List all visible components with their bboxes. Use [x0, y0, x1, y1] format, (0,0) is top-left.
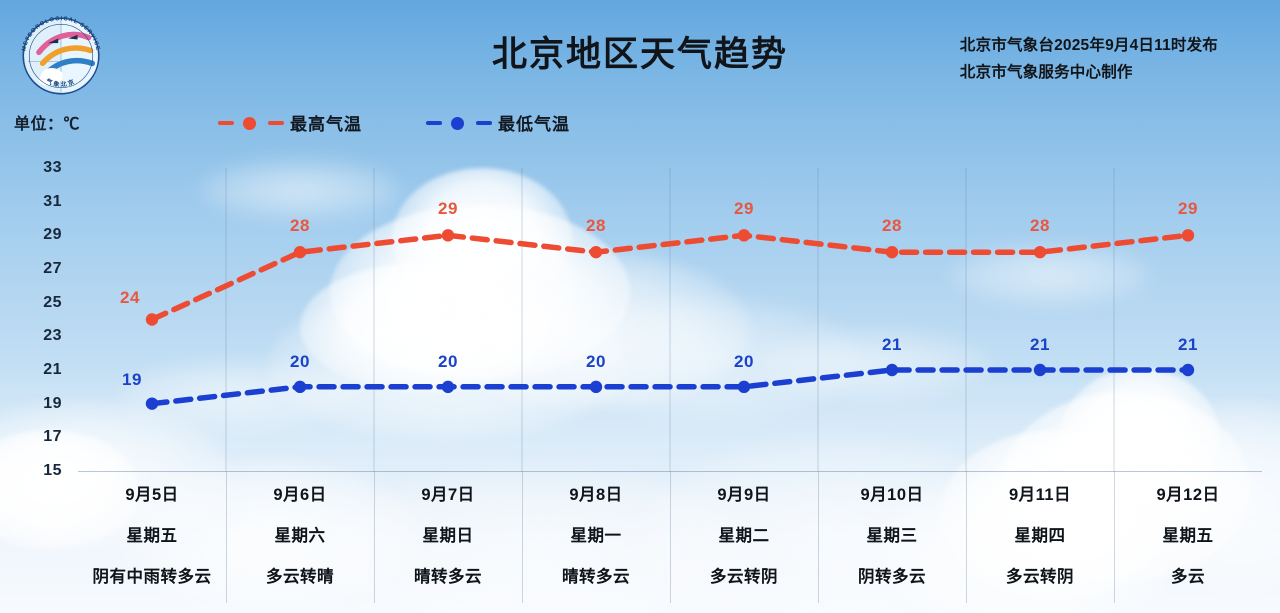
data-point-high	[442, 229, 454, 241]
value-label-high: 29	[734, 199, 754, 219]
day-condition: 多云	[1171, 563, 1205, 587]
data-point-high	[146, 313, 158, 325]
data-point-low	[442, 381, 454, 393]
data-point-low	[1182, 364, 1194, 376]
value-label-high: 24	[120, 288, 140, 308]
data-point-high	[294, 246, 306, 258]
value-label-high: 28	[290, 216, 310, 236]
day-date: 9月6日	[273, 481, 326, 505]
data-point-high	[590, 246, 602, 258]
day-date: 9月8日	[569, 481, 622, 505]
data-point-high	[1182, 229, 1194, 241]
y-axis-tick: 21	[43, 361, 62, 379]
day-column: 9月5日星期五阴有中雨转多云	[78, 471, 226, 613]
value-label-high: 28	[1030, 216, 1050, 236]
legend-label-high: 最高气温	[290, 110, 362, 135]
day-condition: 多云转晴	[266, 563, 334, 587]
publisher-line-1: 北京市气象台2025年9月4日11时发布	[960, 32, 1218, 59]
day-weekday: 星期三	[867, 522, 918, 546]
day-date: 9月7日	[421, 481, 474, 505]
value-label-low: 21	[1030, 335, 1050, 355]
chart-legend: 最高气温 最低气温	[218, 110, 570, 135]
day-column: 9月9日星期二多云转阴	[670, 471, 818, 613]
value-label-low: 19	[122, 370, 142, 390]
day-weekday: 星期四	[1015, 522, 1066, 546]
day-column: 9月11日星期四多云转阴	[966, 471, 1114, 613]
y-axis: 33312927252321191715	[0, 150, 74, 490]
value-label-high: 29	[1178, 199, 1198, 219]
legend-item-low: 最低气温	[426, 110, 570, 135]
day-date: 9月10日	[860, 481, 923, 505]
day-condition: 阴有中雨转多云	[93, 563, 212, 587]
day-condition: 阴转多云	[858, 563, 926, 587]
value-label-low: 20	[290, 352, 310, 372]
value-label-low: 21	[882, 335, 902, 355]
publisher-line-2: 北京市气象服务中心制作	[960, 59, 1218, 86]
day-condition: 多云转阴	[710, 563, 778, 587]
y-axis-tick: 31	[43, 193, 62, 211]
legend-label-low: 最低气温	[498, 110, 570, 135]
day-date: 9月5日	[125, 481, 178, 505]
value-label-low: 20	[586, 352, 606, 372]
value-label-low: 20	[438, 352, 458, 372]
day-condition: 晴转多云	[414, 563, 482, 587]
y-axis-tick: 23	[43, 327, 62, 345]
day-weekday: 星期一	[571, 522, 622, 546]
value-label-high: 29	[438, 199, 458, 219]
day-condition: 晴转多云	[562, 563, 630, 587]
day-weekday: 星期六	[275, 522, 326, 546]
day-column: 9月6日星期六多云转晴	[226, 471, 374, 613]
day-date: 9月12日	[1156, 481, 1219, 505]
legend-item-high: 最高气温	[218, 110, 362, 135]
data-point-high	[1034, 246, 1046, 258]
day-weekday: 星期日	[423, 522, 474, 546]
day-weekday: 星期五	[127, 522, 178, 546]
day-date: 9月9日	[717, 481, 770, 505]
day-column: 9月12日星期五多云	[1114, 471, 1262, 613]
day-columns: 9月5日星期五阴有中雨转多云9月6日星期六多云转晴9月7日星期日晴转多云9月8日…	[78, 471, 1262, 613]
y-axis-tick: 25	[43, 294, 62, 312]
y-axis-tick: 27	[43, 260, 62, 278]
unit-label: 单位：℃	[14, 110, 80, 134]
data-point-high	[738, 229, 750, 241]
day-column: 9月10日星期三阴转多云	[818, 471, 966, 613]
legend-symbol-low-icon	[426, 116, 492, 130]
data-point-low	[886, 364, 898, 376]
weather-trend-infographic: METEOROLOGICAL SERVICE 气象北京 北京地区天气趋势 北京市…	[0, 0, 1280, 613]
day-weekday: 星期五	[1163, 522, 1214, 546]
legend-symbol-high-icon	[218, 116, 284, 130]
y-axis-tick: 33	[43, 159, 62, 177]
data-point-low	[738, 381, 750, 393]
data-point-low	[590, 381, 602, 393]
data-point-low	[294, 381, 306, 393]
y-axis-tick: 17	[43, 428, 62, 446]
value-label-low: 20	[734, 352, 754, 372]
data-point-high	[886, 246, 898, 258]
data-point-low	[1034, 364, 1046, 376]
value-label-high: 28	[586, 216, 606, 236]
y-axis-tick: 19	[43, 395, 62, 413]
day-column: 9月8日星期一晴转多云	[522, 471, 670, 613]
publisher-info: 北京市气象台2025年9月4日11时发布 北京市气象服务中心制作	[960, 32, 1218, 86]
y-axis-tick: 29	[43, 226, 62, 244]
value-label-high: 28	[882, 216, 902, 236]
y-axis-tick: 15	[43, 462, 62, 480]
day-condition: 多云转阴	[1006, 563, 1074, 587]
data-point-low	[146, 397, 158, 409]
day-weekday: 星期二	[719, 522, 770, 546]
chart-plot-area	[78, 168, 1262, 471]
value-label-low: 21	[1178, 335, 1198, 355]
day-column: 9月7日星期日晴转多云	[374, 471, 522, 613]
day-date: 9月11日	[1009, 481, 1071, 505]
